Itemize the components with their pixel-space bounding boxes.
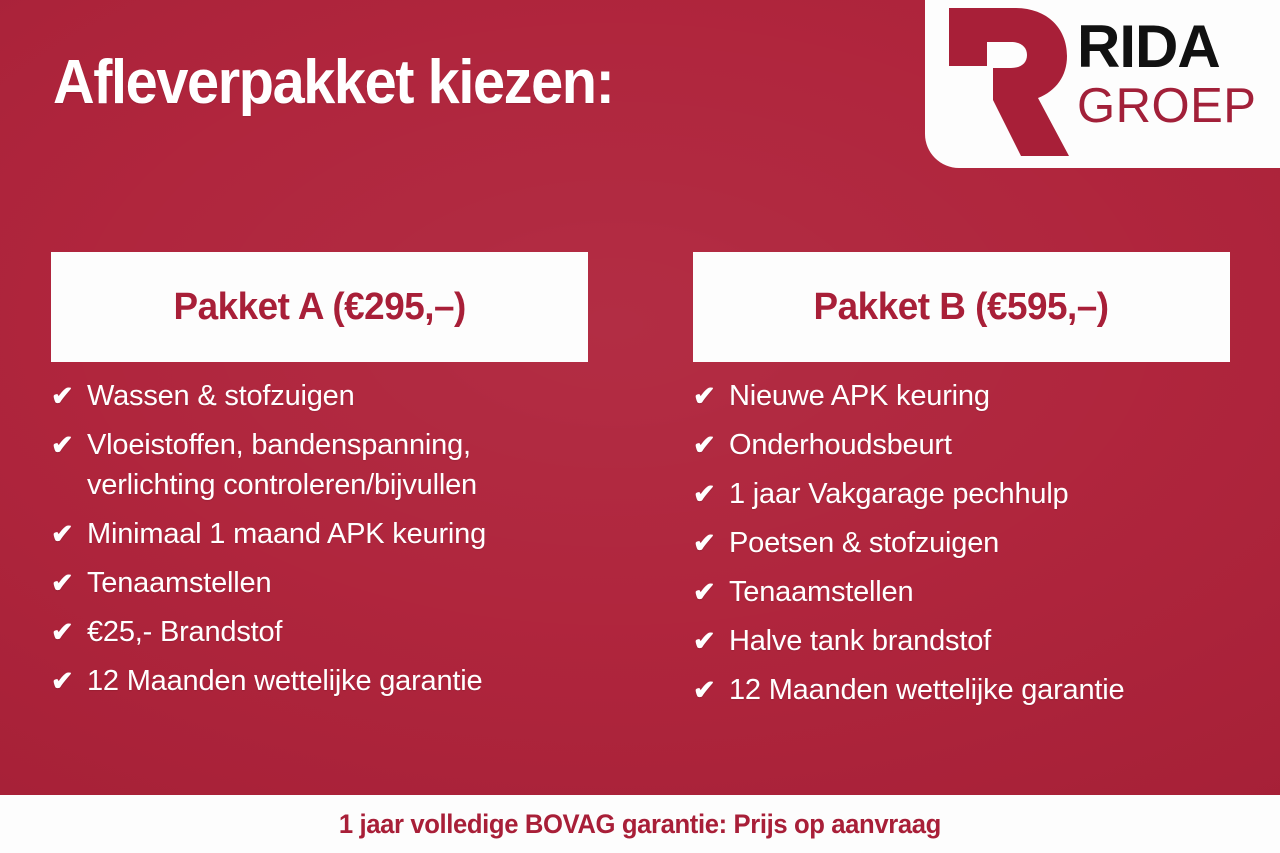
check-icon: ✔ [51,612,87,652]
check-icon: ✔ [693,474,729,514]
package-b-header[interactable]: Pakket B (€595,–) [693,252,1230,362]
check-icon: ✔ [693,523,729,563]
check-icon: ✔ [693,621,729,661]
feature-label: €25,- Brandstof [87,612,282,652]
feature-label: Vloeistoffen, bandenspanning, verlichtin… [87,425,477,505]
check-icon: ✔ [51,514,87,554]
list-item: ✔ Nieuwe APK keuring [693,376,1230,416]
feature-label: Tenaamstellen [87,563,271,603]
feature-label: Poetsen & stofzuigen [729,523,999,563]
feature-label: Minimaal 1 maand APK keuring [87,514,486,554]
feature-label: Nieuwe APK keuring [729,376,990,416]
brand-name-secondary: GROEP [1077,80,1272,132]
package-a-header[interactable]: Pakket A (€295,–) [51,252,588,362]
list-item: ✔ Halve tank brandstof [693,621,1230,661]
list-item: ✔ Onderhoudsbeurt [693,425,1230,465]
footer-bar: 1 jaar volledige BOVAG garantie: Prijs o… [0,795,1280,853]
package-b-title: Pakket B (€595,–) [814,286,1109,328]
feature-label-line-2: verlichting controleren/bijvullen [87,465,477,505]
package-a-title: Pakket A (€295,–) [173,286,465,328]
feature-label: Onderhoudsbeurt [729,425,952,465]
page-title: Afleverpakket kiezen: [53,47,613,119]
footer-note: 1 jaar volledige BOVAG garantie: Prijs o… [339,809,941,839]
feature-label-line-1: Vloeistoffen, bandenspanning, [87,425,477,465]
list-item: ✔ €25,- Brandstof [51,612,588,652]
brand-name-primary: RIDA [1077,16,1272,78]
list-item: ✔ 1 jaar Vakgarage pechhulp [693,474,1230,514]
check-icon: ✔ [51,425,87,465]
feature-label: Halve tank brandstof [729,621,991,661]
list-item: ✔ Poetsen & stofzuigen [693,523,1230,563]
promo-poster: Afleverpakket kiezen: RIDA GROEP Pakket … [0,0,1280,853]
check-icon: ✔ [693,572,729,612]
feature-label: 1 jaar Vakgarage pechhulp [729,474,1069,514]
list-item: ✔ Tenaamstellen [51,563,588,603]
feature-label: 12 Maanden wettelijke garantie [87,661,482,701]
feature-label: Tenaamstellen [729,572,913,612]
list-item: ✔ 12 Maanden wettelijke garantie [693,670,1230,710]
rida-r-monogram-icon [943,6,1073,158]
list-item: ✔ Minimaal 1 maand APK keuring [51,514,588,554]
brand-logo-panel: RIDA GROEP [925,0,1280,168]
check-icon: ✔ [693,376,729,416]
feature-label: Wassen & stofzuigen [87,376,355,416]
package-column-b: Pakket B (€595,–) ✔ Nieuwe APK keuring ✔… [693,252,1230,719]
check-icon: ✔ [51,661,87,701]
check-icon: ✔ [693,425,729,465]
package-b-feature-list: ✔ Nieuwe APK keuring ✔ Onderhoudsbeurt ✔… [693,376,1230,710]
list-item: ✔ Tenaamstellen [693,572,1230,612]
list-item: ✔ Wassen & stofzuigen [51,376,588,416]
list-item: ✔ 12 Maanden wettelijke garantie [51,661,588,701]
package-column-a: Pakket A (€295,–) ✔ Wassen & stofzuigen … [51,252,588,710]
check-icon: ✔ [693,670,729,710]
check-icon: ✔ [51,563,87,603]
list-item: ✔ Vloeistoffen, bandenspanning, verlicht… [51,425,588,505]
feature-label: 12 Maanden wettelijke garantie [729,670,1124,710]
check-icon: ✔ [51,376,87,416]
brand-wordmark: RIDA GROEP [1077,16,1272,132]
package-a-feature-list: ✔ Wassen & stofzuigen ✔ Vloeistoffen, ba… [51,376,588,701]
